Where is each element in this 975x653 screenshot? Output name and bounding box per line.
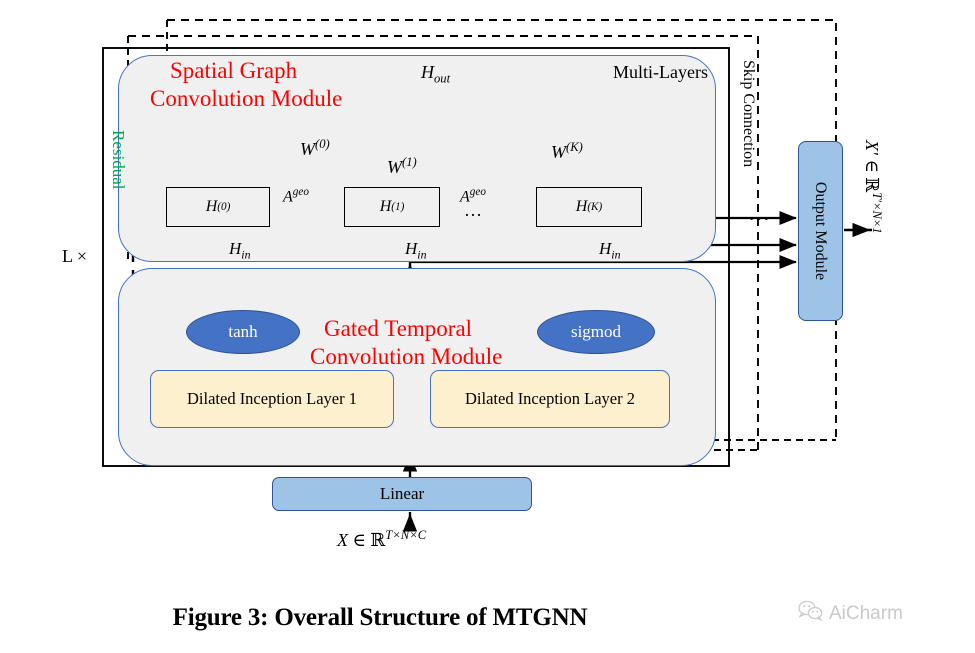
input-set-symbol: ℝ [370,530,385,550]
output-module: Output Module [798,141,843,321]
temporal-module-title-line1: Gated Temporal [324,316,472,342]
h-in-k-symbol: H [599,239,611,258]
dilated-inception-layer-1: Dilated Inception Layer 1 [150,370,394,428]
weight-1-sup: (1) [402,155,417,169]
spatial-module-title-line2: Convolution Module [150,86,342,112]
node-box-h1: H(1) [344,187,440,227]
h0-symbol: H [206,198,218,216]
input-in-symbol: ∈ [353,530,366,550]
dilated-layer-1-label: Dilated Inception Layer 1 [187,389,357,409]
temporal-module-title-line2: Convolution Module [310,344,502,370]
hk-symbol: H [576,198,588,216]
multi-layers-label: Multi-Layers [613,62,708,83]
output-tensor-label: X′ ∈ ℝT′×N×1 [861,140,884,234]
weight-0-symbol: W [300,139,315,159]
weight-k-symbol: W [551,142,566,162]
figure-caption: Figure 3: Overall Structure of MTGNN [0,604,760,632]
output-set-symbol: ℝ [862,177,882,192]
spatial-module-title-line1: Spatial Graph [170,58,297,84]
ageo-label-1: Ageo [283,186,309,206]
output-shape: T′×N×1 [870,192,884,233]
weight-0-sup: (0) [315,137,330,151]
input-shape: T×N×C [385,528,426,542]
residual-label: Residual [108,130,128,190]
node-box-h0: H(0) [166,187,270,227]
dilated-inception-layer-2: Dilated Inception Layer 2 [430,370,670,428]
h-in-1-symbol: H [405,239,417,258]
h-in-0-sub: in [241,247,250,261]
watermark: AiCharm [798,600,903,628]
ageo-1-symbol: A [283,188,293,205]
h-in-0-symbol: H [229,239,241,258]
sigmod-label: sigmod [571,322,621,342]
ageo-1-sup: geo [293,186,309,198]
input-var: X [337,530,348,550]
h-in-1-sub: in [417,247,426,261]
output-var: X′ [862,140,882,155]
activation-sigmod: sigmod [537,310,655,354]
input-tensor-label: X ∈ ℝT×N×C [337,528,426,551]
weight-1-symbol: W [387,157,402,177]
tanh-label: tanh [228,322,257,342]
h0-sup: (0) [217,201,230,213]
h1-symbol: H [380,198,392,216]
weight-k-label: W(K) [551,140,583,163]
ageo-ellipsis: … [464,200,483,221]
h-out-label: Hout [421,62,450,87]
h1-sup: (1) [391,201,404,213]
figure-canvas: Spatial Graph Convolution Module Multi-L… [0,0,975,653]
skip-connection-dots: … [748,200,772,226]
h-in-label-k: Hin [599,239,621,262]
h-in-label-0: Hin [229,239,251,262]
activation-tanh: tanh [186,310,300,354]
h-out-subscript: out [434,72,450,86]
output-in-symbol: ∈ [862,159,882,172]
output-module-label: Output Module [812,182,830,280]
ageo-2-sup: geo [470,186,486,198]
linear-label: Linear [380,484,424,504]
wechat-icon [798,600,824,628]
hk-sup: (K) [587,201,602,213]
watermark-text: AiCharm [829,603,903,625]
weight-k-sup: (K) [566,140,583,154]
node-box-hk: H(K) [536,187,642,227]
skip-connection-label: Skip Connection [739,60,757,167]
h-in-label-1: Hin [405,239,427,262]
loop-count-label: L × [62,246,87,267]
dilated-layer-2-label: Dilated Inception Layer 2 [465,389,635,409]
linear-block: Linear [272,477,532,511]
weight-0-label: W(0) [300,137,330,160]
h-out-symbol: H [421,62,434,82]
h-in-k-sub: in [611,247,620,261]
weight-1-label: W(1) [387,155,417,178]
